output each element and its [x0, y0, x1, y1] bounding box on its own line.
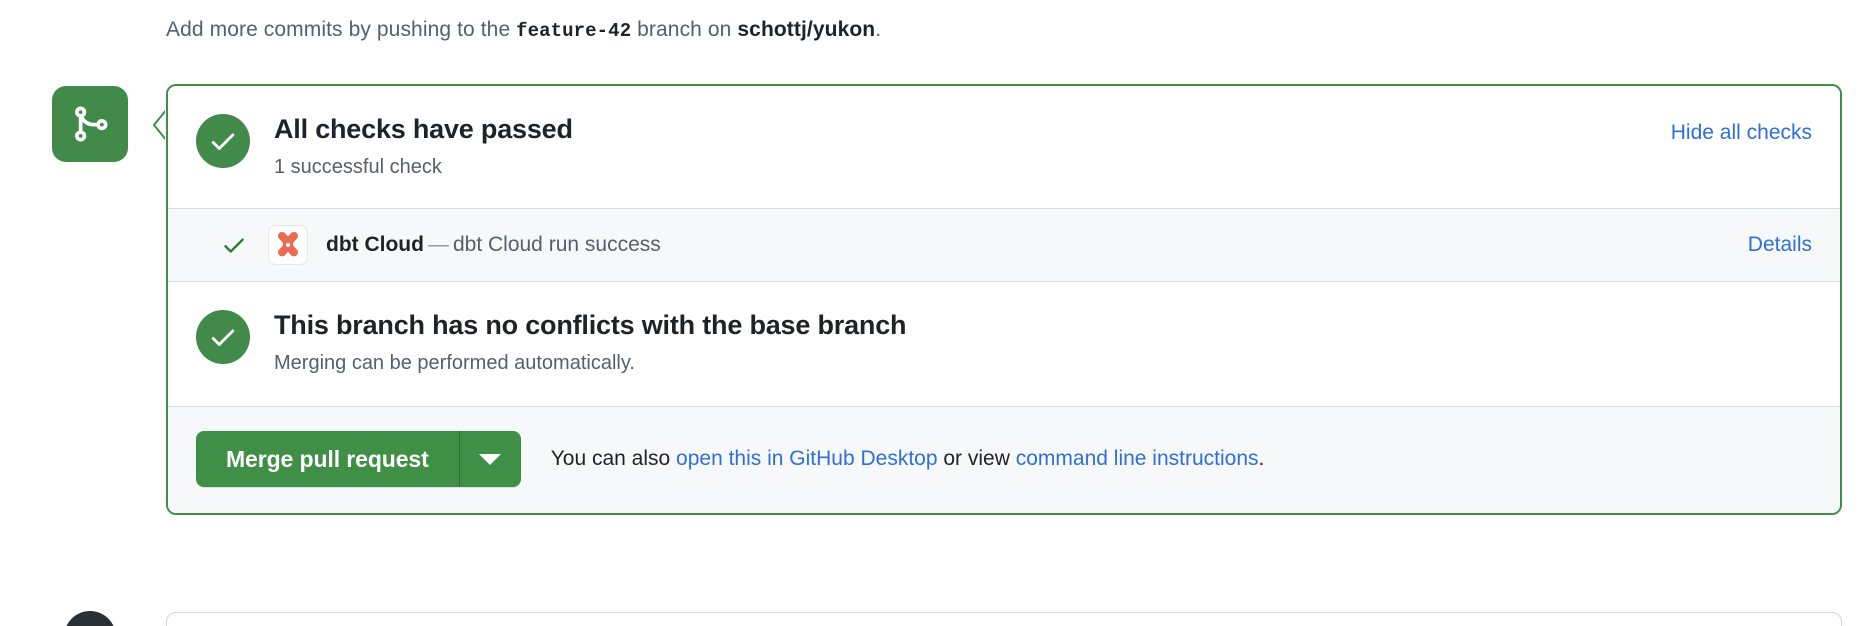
merge-button-group: Merge pull request — [196, 431, 521, 487]
conflicts-subtitle: Merging can be performed automatically. — [274, 348, 1812, 378]
footer-text-after: . — [1259, 447, 1265, 470]
git-merge-icon — [70, 104, 110, 144]
push-notice-prefix: Add more commits by pushing to the — [166, 18, 510, 41]
merge-options-dropdown-button[interactable] — [459, 431, 521, 487]
check-circle-icon — [196, 114, 250, 168]
checks-summary-section: All checks have passed 1 successful chec… — [168, 86, 1840, 208]
merge-pull-request-button[interactable]: Merge pull request — [196, 431, 459, 487]
check-icon — [220, 232, 248, 258]
push-more-commits-notice: Add more commits by pushing to the featu… — [166, 14, 881, 47]
merge-actions-footer: Merge pull request You can also open thi… — [168, 407, 1840, 513]
conflicts-title: This branch has no conflicts with the ba… — [274, 308, 1812, 342]
branch-name: feature-42 — [516, 20, 631, 42]
command-line-instructions-link[interactable]: command line instructions — [1016, 447, 1259, 470]
hide-all-checks-link[interactable]: Hide all checks — [1671, 116, 1812, 150]
check-row[interactable]: dbt Cloud—dbt Cloud run success Details — [168, 208, 1840, 282]
dbt-cloud-logo-icon — [268, 225, 308, 265]
check-circle-icon — [196, 310, 250, 364]
open-in-github-desktop-link[interactable]: open this in GitHub Desktop — [676, 447, 937, 470]
check-details-link[interactable]: Details — [1748, 233, 1812, 257]
merge-status-box: All checks have passed 1 successful chec… — [166, 84, 1842, 515]
checks-summary-subtitle: 1 successful check — [274, 152, 1671, 182]
conflicts-text: This branch has no conflicts with the ba… — [274, 308, 1812, 378]
avatar — [64, 611, 116, 626]
check-dash: — — [424, 233, 453, 256]
chevron-down-icon — [479, 454, 501, 465]
merge-alternatives-text: You can also open this in GitHub Desktop… — [551, 444, 1265, 474]
conflicts-section: This branch has no conflicts with the ba… — [168, 282, 1840, 407]
pull-request-merge-section: Add more commits by pushing to the featu… — [0, 0, 1868, 626]
checks-summary-text: All checks have passed 1 successful chec… — [274, 112, 1671, 182]
checks-summary-title: All checks have passed — [274, 112, 1671, 146]
timeline-merge-badge — [52, 86, 128, 162]
comment-box-partial — [166, 612, 1842, 626]
check-label: dbt Cloud—dbt Cloud run success — [326, 230, 1748, 260]
check-context-name: dbt Cloud — [326, 233, 424, 256]
push-notice-middle: branch on — [637, 18, 731, 41]
check-description: dbt Cloud run success — [453, 233, 661, 256]
repository-name: schottj/yukon — [737, 18, 875, 41]
footer-text-middle: or view — [943, 447, 1010, 470]
footer-text-before: You can also — [551, 447, 671, 470]
push-notice-suffix: . — [875, 18, 881, 41]
